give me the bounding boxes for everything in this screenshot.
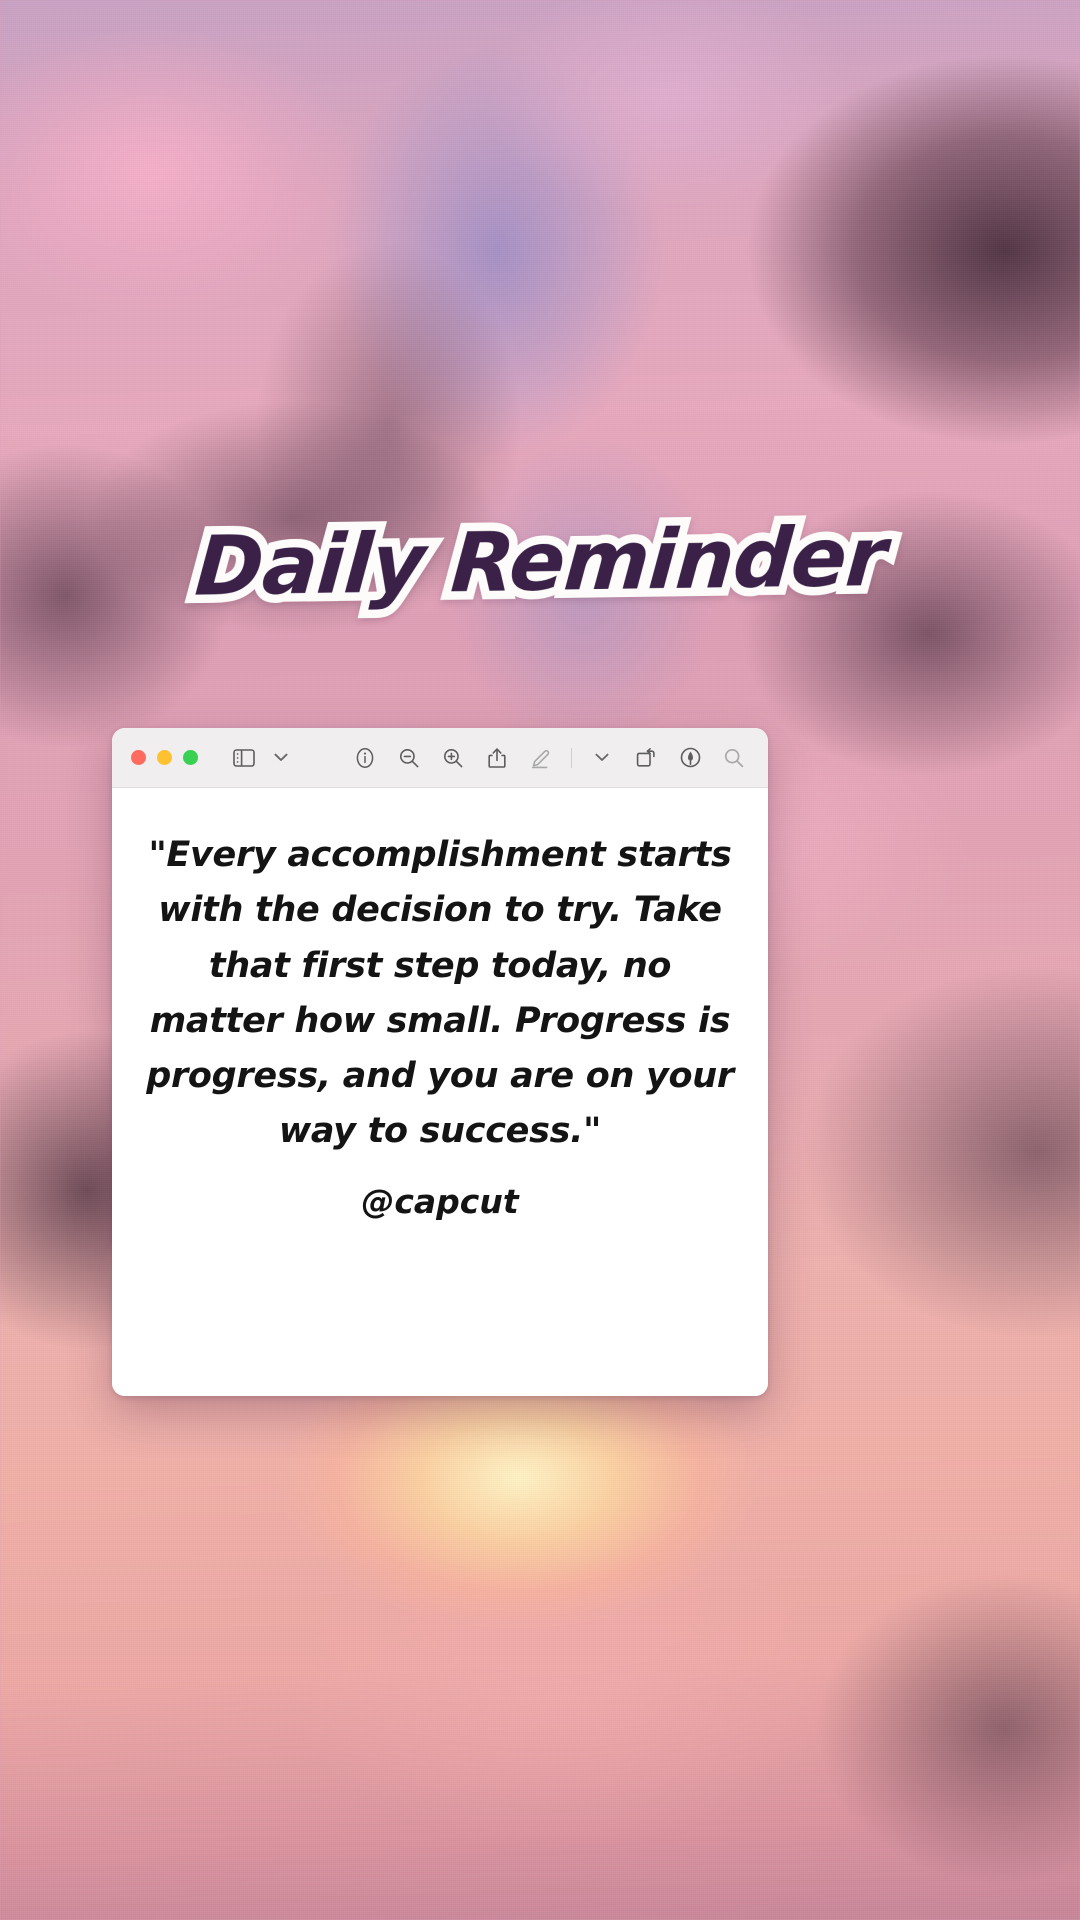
preview-window[interactable]: "Every accomplishment starts with the de… — [112, 728, 768, 1396]
share-icon[interactable] — [482, 743, 512, 773]
search-icon[interactable] — [719, 743, 749, 773]
author-handle: @capcut — [138, 1182, 742, 1221]
toolbar-left-group — [229, 743, 296, 773]
title-block: Daily Reminder — [0, 520, 1080, 606]
chevron-down-icon[interactable] — [266, 743, 296, 773]
quote-text: "Every accomplishment starts with the de… — [138, 828, 742, 1160]
sidebar-icon[interactable] — [229, 743, 259, 773]
info-circle-icon[interactable] — [350, 743, 380, 773]
traffic-light-group — [131, 750, 198, 765]
markup-pen-icon[interactable] — [526, 743, 556, 773]
zoom-out-icon[interactable] — [394, 743, 424, 773]
annotate-icon[interactable] — [675, 743, 705, 773]
document-page: "Every accomplishment starts with the de… — [112, 788, 768, 1396]
close-window-button[interactable] — [131, 750, 146, 765]
window-titlebar — [112, 728, 768, 788]
chevron-down-icon[interactable] — [587, 743, 617, 773]
toolbar-right-group — [350, 743, 749, 773]
toolbar-divider — [571, 748, 572, 768]
poster-canvas: Daily Reminder — [0, 0, 1080, 1920]
page-title: Daily Reminder — [192, 515, 888, 611]
zoom-in-icon[interactable] — [438, 743, 468, 773]
minimize-window-button[interactable] — [157, 750, 172, 765]
maximize-window-button[interactable] — [183, 750, 198, 765]
rotate-icon[interactable] — [631, 743, 661, 773]
